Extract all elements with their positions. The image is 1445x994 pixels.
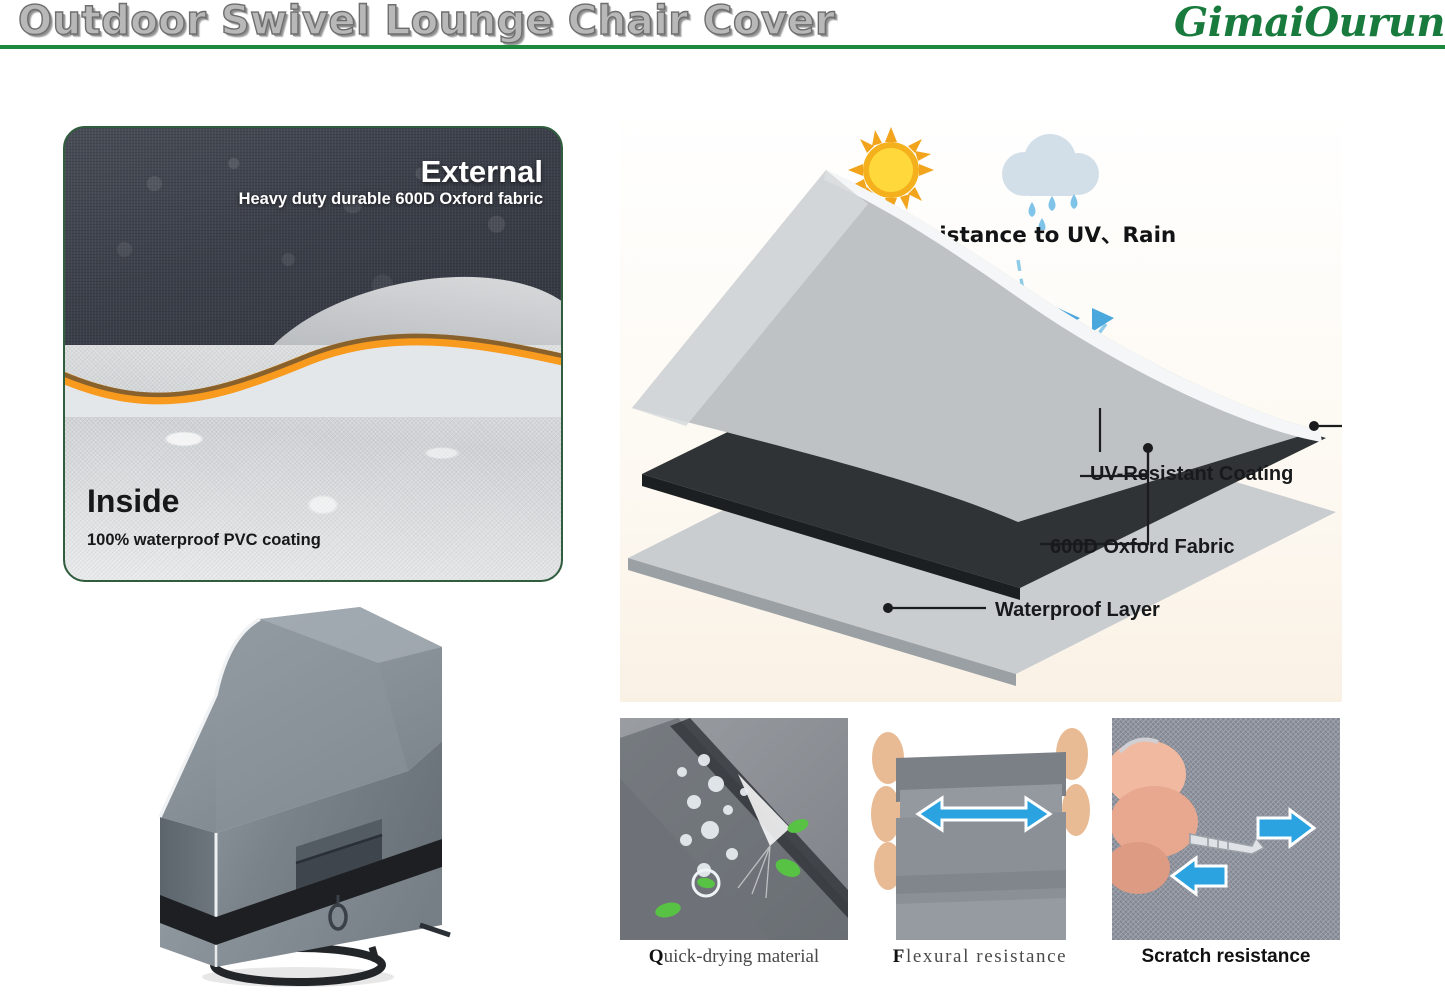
buckle-strap bbox=[420, 925, 450, 935]
caption-scratch-resistance: Scratch resistance bbox=[1112, 946, 1340, 968]
infographic-page: Outdoor Swivel Lounge Chair Cover GimaiO… bbox=[0, 0, 1445, 989]
layer-diagram-panel: Strong resistance to UV、Rain bbox=[620, 108, 1342, 702]
product-photo-chair-cover bbox=[120, 595, 460, 989]
orange-wave-divider-icon bbox=[63, 309, 563, 417]
fabric-swatch-panel: External Heavy duty durable 600D Oxford … bbox=[63, 126, 563, 582]
photo-key-scratching-fabric bbox=[1112, 718, 1340, 940]
inside-sublabel: 100% waterproof PVC coating bbox=[87, 531, 321, 550]
caption-dropcap: F bbox=[893, 946, 906, 967]
page-title: Outdoor Swivel Lounge Chair Cover bbox=[18, 0, 835, 44]
label-waterproof-layer: Waterproof Layer bbox=[995, 599, 1160, 622]
caption-flexural-resistance: Flexural resistance bbox=[866, 946, 1094, 968]
caption-text: lexural resistance bbox=[906, 946, 1067, 967]
feature-tile-flexural-resistance: Flexural resistance bbox=[866, 718, 1094, 940]
caption-text: uick-drying material bbox=[664, 946, 820, 967]
external-label: External bbox=[421, 154, 543, 190]
photo-hands-stretching-fabric bbox=[866, 718, 1094, 940]
header-divider-rule bbox=[0, 45, 1445, 49]
caption-quick-drying: Quick-drying material bbox=[620, 946, 848, 968]
label-600d-oxford-fabric: 600D Oxford Fabric bbox=[1050, 536, 1235, 559]
caption-dropcap: Q bbox=[649, 946, 664, 967]
inside-label: Inside bbox=[87, 483, 179, 520]
photo-water-droplets-on-fabric bbox=[620, 718, 848, 940]
feature-tile-quick-drying: Quick-drying material bbox=[620, 718, 848, 940]
label-uv-resistant-coating: UV-Resistant Coating bbox=[1090, 463, 1293, 486]
reflection-arrows-diagram bbox=[620, 108, 1342, 702]
brand-logo: GimaiOurun bbox=[1174, 0, 1445, 46]
chair-cover-illustration bbox=[120, 595, 460, 989]
feature-tiles-row: Quick-drying material bbox=[620, 718, 1342, 989]
feature-tile-scratch-resistance: Scratch resistance bbox=[1112, 718, 1340, 940]
external-sublabel: Heavy duty durable 600D Oxford fabric bbox=[239, 190, 543, 209]
